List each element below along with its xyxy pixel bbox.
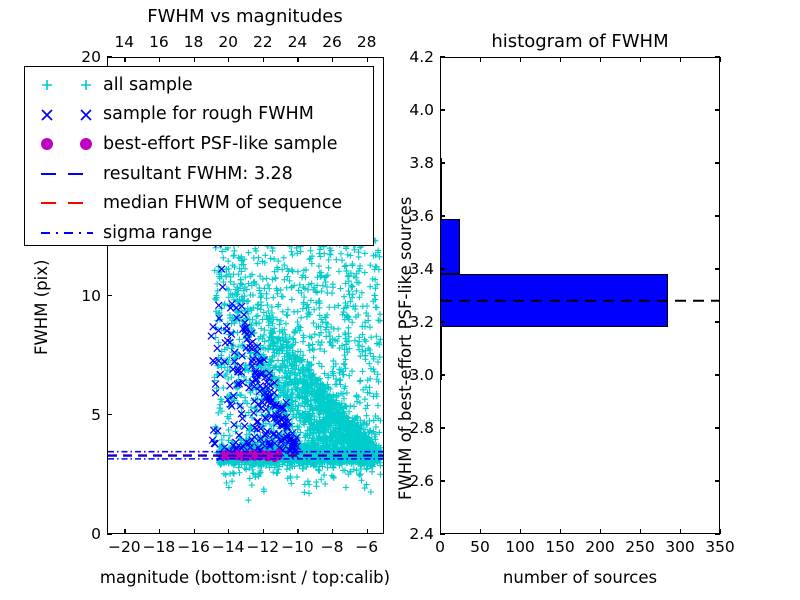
left-ytick <box>107 533 112 534</box>
right-xtick <box>720 529 721 534</box>
left-ytick <box>107 56 112 57</box>
histogram-bar <box>441 219 460 275</box>
left-xtick-top <box>332 57 333 62</box>
right-ytick-right <box>715 427 720 428</box>
left-xtick-top <box>124 57 125 62</box>
right-xtick-top <box>560 57 561 62</box>
left-xtick-label-top: 16 <box>149 33 169 51</box>
left-ytick <box>107 295 112 296</box>
left-xtick-top <box>194 57 195 62</box>
left-xtick-label-bottom: −14 <box>212 538 245 556</box>
right-xtick-label: 200 <box>585 538 615 556</box>
legend-entry-label: resultant FWHM: 3.28 <box>103 164 293 184</box>
right-ytick-label: 4.0 <box>388 101 434 119</box>
right-ytick-right <box>715 56 720 57</box>
right-ytick <box>440 533 445 534</box>
right-ytick <box>440 427 445 428</box>
figure-canvas: FWHM vs magnitudes FWHM (pix) magnitude … <box>0 0 800 600</box>
left-ytick <box>107 414 112 415</box>
right-xtick-top <box>520 57 521 62</box>
right-ytick-right <box>715 268 720 269</box>
right-xtick-label: 250 <box>625 538 655 556</box>
left-xtick-bottom <box>194 529 195 534</box>
left-xtick-label-bottom: −12 <box>246 538 279 556</box>
legend-marker-cross-icon <box>31 100 103 130</box>
right-ytick-label: 3.6 <box>388 207 434 225</box>
legend-marker-circle-icon <box>31 129 103 159</box>
left-xtick-label-top: 28 <box>357 33 377 51</box>
histogram-bar <box>441 166 442 219</box>
left-xtick-label-top: 22 <box>253 33 273 51</box>
legend-entry[interactable]: sigma range <box>31 218 373 248</box>
left-xtick-top <box>263 57 264 62</box>
right-plot-title: histogram of FWHM <box>491 31 668 52</box>
right-xtick-label: 0 <box>435 538 445 556</box>
legend-entry-label: best-effort PSF-like sample <box>103 134 338 154</box>
legend-entry[interactable]: best-effort PSF-like sample <box>31 129 373 159</box>
right-ytick-label: 2.4 <box>388 525 434 543</box>
left-x-axis-label: magnitude (bottom:isnt / top:calib) <box>100 568 390 587</box>
left-ytick-label: 10 <box>59 287 101 305</box>
right-ytick <box>440 56 445 57</box>
left-y-axis-label: FWHM (pix) <box>32 260 51 355</box>
legend-entry-label: all sample <box>103 75 193 95</box>
left-xtick-bottom <box>159 529 160 534</box>
right-xtick-top <box>680 57 681 62</box>
left-xtick-label-top: 24 <box>288 33 308 51</box>
right-ytick <box>440 480 445 481</box>
left-xtick-bottom <box>228 529 229 534</box>
right-xtick-label: 100 <box>505 538 535 556</box>
left-xtick-bottom <box>297 529 298 534</box>
right-ytick-right <box>715 533 720 534</box>
left-xtick-label-bottom: −20 <box>108 538 141 556</box>
legend-entry[interactable]: median FHWM of sequence <box>31 188 373 218</box>
right-ytick <box>440 374 445 375</box>
right-ytick-right <box>715 162 720 163</box>
right-xtick <box>640 529 641 534</box>
left-xtick-bottom <box>367 529 368 534</box>
left-ytick-label: 0 <box>59 525 101 543</box>
left-plot-title: FWHM vs magnitudes <box>147 6 342 27</box>
left-xtick-label-top: 18 <box>184 33 204 51</box>
left-xtick-top <box>159 57 160 62</box>
left-ytick-label: 5 <box>59 406 101 424</box>
legend-entry-label: median FHWM of sequence <box>103 193 342 213</box>
legend-entry[interactable]: all sample <box>31 70 373 100</box>
left-xtick-label-bottom: −6 <box>355 538 378 556</box>
left-xtick-top <box>367 57 368 62</box>
right-x-axis-label: number of sources <box>503 568 657 587</box>
right-ytick-right <box>715 374 720 375</box>
right-ytick <box>440 215 445 216</box>
right-xtick <box>480 529 481 534</box>
right-xtick <box>520 529 521 534</box>
left-xtick-label-bottom: −10 <box>281 538 314 556</box>
right-ytick-label: 3.8 <box>388 154 434 172</box>
right-xtick <box>680 529 681 534</box>
right-ytick-label: 3.0 <box>388 366 434 384</box>
right-xtick-label: 300 <box>665 538 695 556</box>
legend-entry-label: sigma range <box>103 223 212 243</box>
right-ytick-label: 4.2 <box>388 48 434 66</box>
right-ytick-right <box>715 215 720 216</box>
right-ytick <box>440 109 445 110</box>
histogram-bar <box>441 274 668 327</box>
right-y-axis-label: FWHM of best-effort PSF-like sources <box>396 197 415 500</box>
left-xtick-label-top: 26 <box>322 33 342 51</box>
legend-marker-dashdot-icon <box>31 218 103 248</box>
legend-entry[interactable]: sample for rough FWHM <box>31 100 373 130</box>
right-xtick-label: 350 <box>705 538 735 556</box>
left-xtick-top <box>297 57 298 62</box>
left-xtick-top <box>228 57 229 62</box>
legend-marker-dashed-icon <box>31 188 103 218</box>
right-ytick-right <box>715 109 720 110</box>
left-xtick-bottom <box>332 529 333 534</box>
right-ytick-right <box>715 480 720 481</box>
legend-entry[interactable]: resultant FWHM: 3.28 <box>31 159 373 189</box>
right-plot-data-area <box>441 58 719 533</box>
legend-rows: all samplesample for rough FWHMbest-effo… <box>31 70 373 248</box>
right-ytick-right <box>715 321 720 322</box>
left-xtick-label-top: 14 <box>114 33 134 51</box>
legend-marker-plus-icon <box>31 70 103 100</box>
right-ytick-label: 3.2 <box>388 313 434 331</box>
right-xtick <box>600 529 601 534</box>
right-xtick-label: 150 <box>545 538 575 556</box>
left-xtick-bottom <box>124 529 125 534</box>
left-xtick-label-top: 20 <box>218 33 238 51</box>
legend-marker-dashed-icon <box>31 159 103 189</box>
plot-legend: all samplesample for rough FWHMbest-effo… <box>24 66 374 246</box>
left-xtick-label-bottom: −16 <box>177 538 210 556</box>
legend-entry-label: sample for rough FWHM <box>103 104 314 124</box>
right-ytick-label: 2.8 <box>388 419 434 437</box>
left-xtick-bottom <box>263 529 264 534</box>
right-ytick <box>440 268 445 269</box>
right-ytick <box>440 162 445 163</box>
left-xtick-label-bottom: −18 <box>143 538 176 556</box>
right-xtick-top <box>440 57 441 62</box>
right-ytick-label: 2.6 <box>388 472 434 490</box>
right-xtick-label: 50 <box>470 538 490 556</box>
right-xtick-top <box>720 57 721 62</box>
right-ytick <box>440 321 445 322</box>
right-ytick-label: 3.4 <box>388 260 434 278</box>
left-xtick-label-bottom: −8 <box>321 538 344 556</box>
left-ytick-label: 20 <box>59 48 101 66</box>
right-xtick <box>560 529 561 534</box>
histogram-bar <box>441 327 442 380</box>
right-xtick-top <box>640 57 641 62</box>
right-xtick-top <box>600 57 601 62</box>
right-xtick-top <box>480 57 481 62</box>
